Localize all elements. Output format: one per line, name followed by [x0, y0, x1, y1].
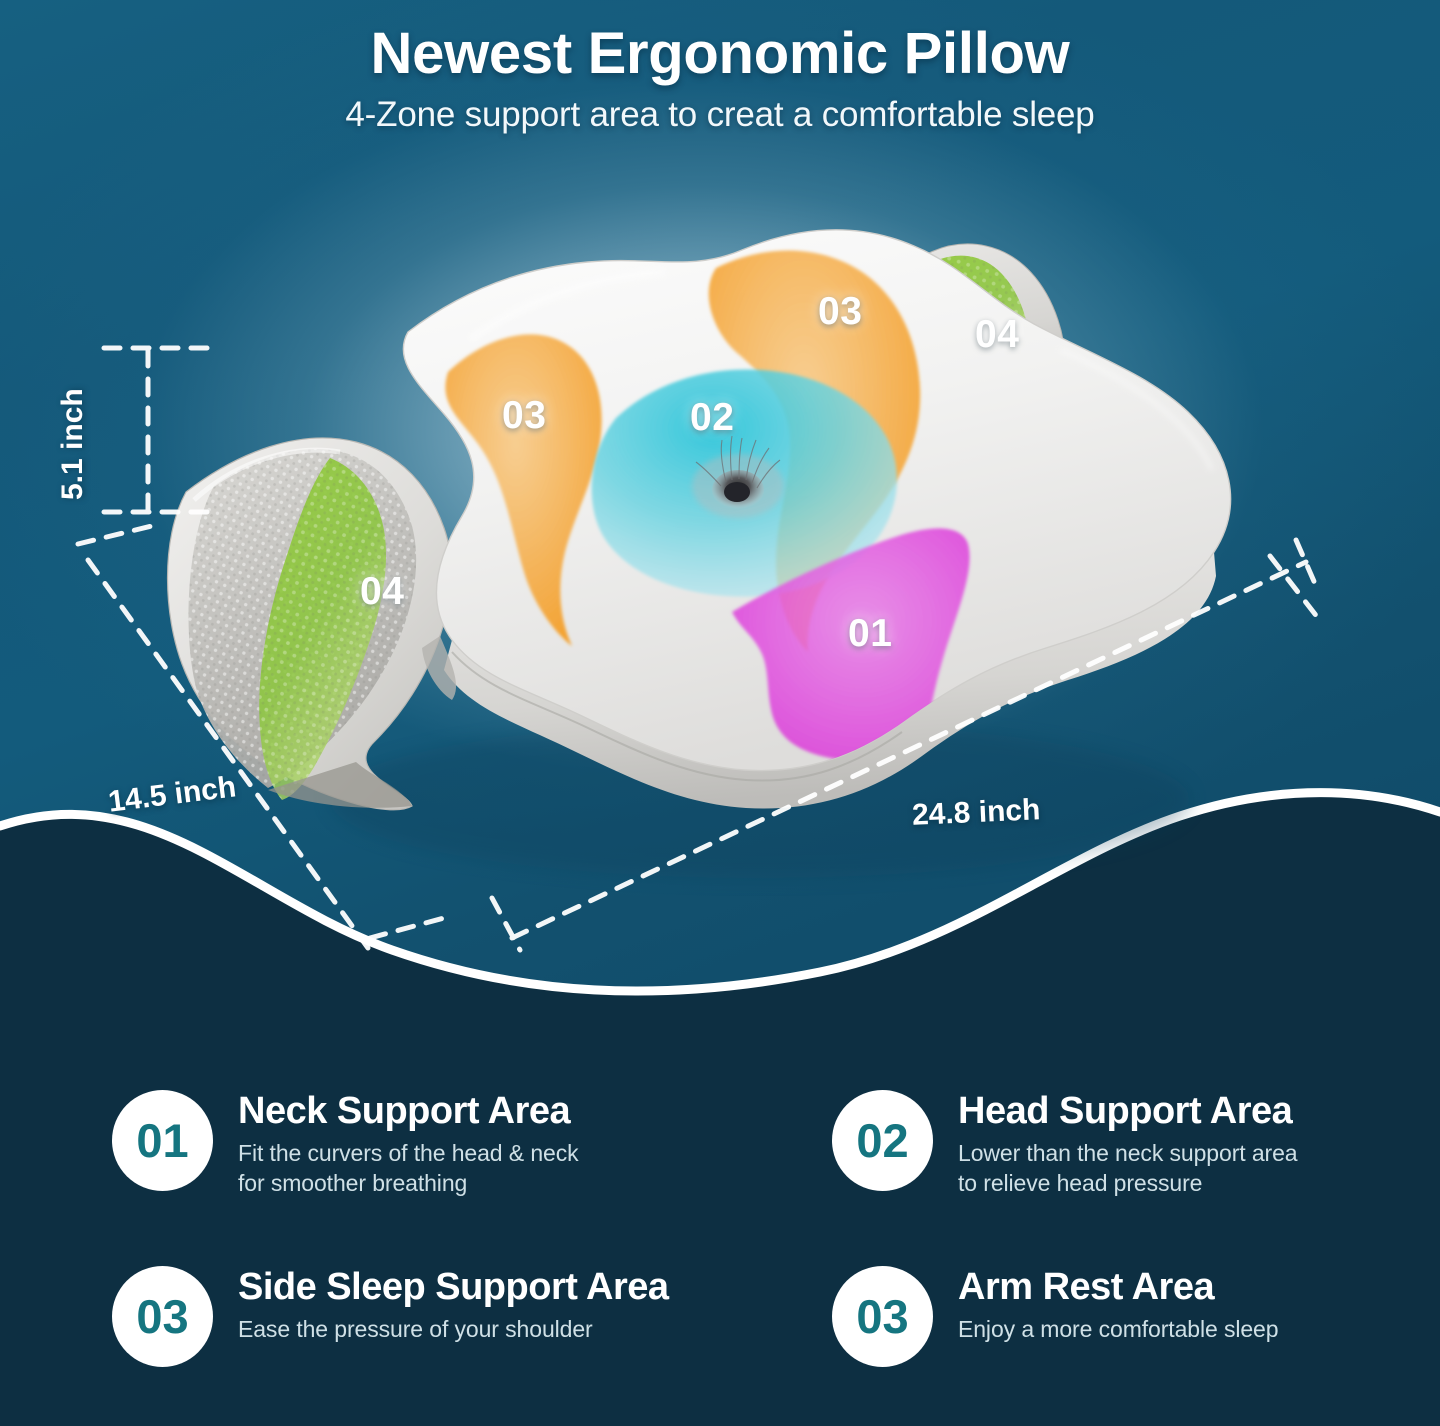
dim-width-cap-top: [78, 524, 160, 544]
dim-width-cap-bottom: [370, 918, 444, 938]
dim-length-cap-left: [492, 898, 520, 950]
dim-width-line: [88, 560, 368, 948]
page-title: Newest Ergonomic Pillow: [0, 24, 1440, 85]
feature-item-02: 02 Head Support Area Lower than the neck…: [832, 1088, 1440, 1264]
header: Newest Ergonomic Pillow 4-Zone support a…: [0, 24, 1440, 135]
dimension-height-label: 5.1 inch: [56, 388, 90, 500]
feature-desc-02: Lower than the neck support areato relie…: [958, 1138, 1297, 1199]
dimension-length-label: 24.8 inch: [911, 793, 1041, 833]
feature-desc-04: Enjoy a more comfortable sleep: [958, 1314, 1278, 1344]
feature-desc-01: Fit the curvers of the head & neckfor sm…: [238, 1138, 579, 1199]
feature-item-03: 03 Side Sleep Support Area Ease the pres…: [112, 1264, 812, 1414]
feature-badge-03: 03: [112, 1266, 213, 1367]
dim-length-line: [512, 562, 1306, 938]
page-subtitle: 4-Zone support area to creat a comfortab…: [0, 95, 1440, 135]
feature-badge-01: 01: [112, 1090, 213, 1191]
dimension-lines: [0, 0, 1440, 1040]
feature-title-01: Neck Support Area: [238, 1092, 579, 1131]
feature-title-04: Arm Rest Area: [958, 1268, 1278, 1307]
feature-item-04: 03 Arm Rest Area Enjoy a more comfortabl…: [832, 1264, 1440, 1414]
hero-section: 01 02 03 03 04 04 5.1 inch 14.5 inch 24.…: [0, 0, 1440, 1040]
feature-title-02: Head Support Area: [958, 1092, 1297, 1131]
feature-desc-03: Ease the pressure of your shoulder: [238, 1314, 669, 1344]
feature-badge-04: 03: [832, 1266, 933, 1367]
feature-panel: 01 Neck Support Area Fit the curvers of …: [0, 1040, 1440, 1426]
feature-badge-02: 02: [832, 1090, 933, 1191]
feature-item-01: 01 Neck Support Area Fit the curvers of …: [112, 1088, 812, 1264]
feature-title-03: Side Sleep Support Area: [238, 1268, 669, 1307]
dim-length-tick-right: [1270, 556, 1318, 618]
